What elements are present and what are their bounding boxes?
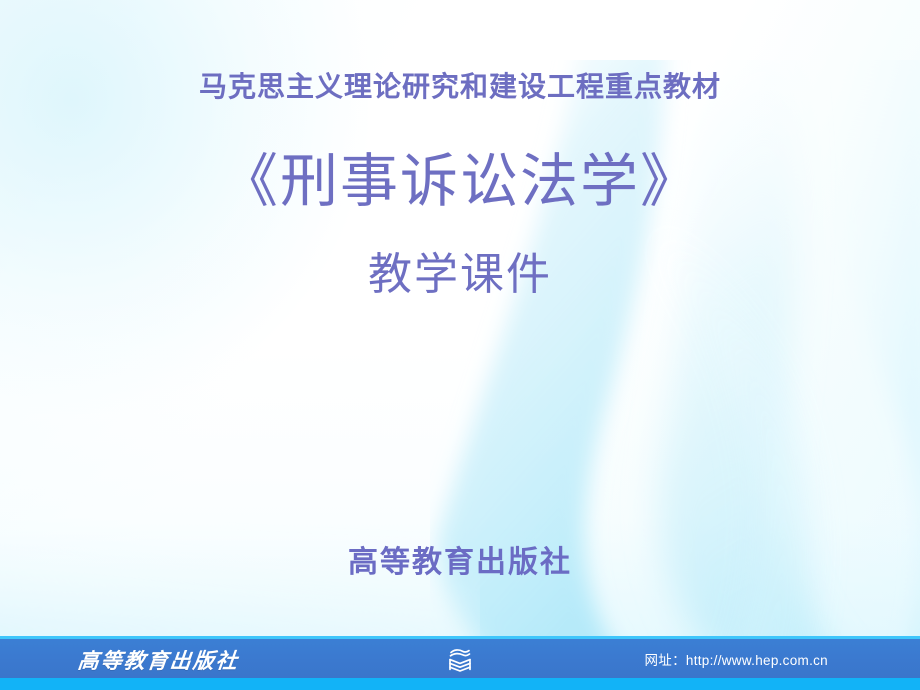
slide-content: 马克思主义理论研究和建设工程重点教材 《刑事诉讼法学》 教学课件 高等教育出版社 (0, 0, 920, 690)
footer-website-url[interactable]: 网址：http://www.hep.com.cn (644, 639, 828, 678)
publisher-name: 高等教育出版社 (0, 543, 920, 582)
page-subtitle: 教学课件 (0, 246, 920, 303)
footer-bottom-strip (0, 678, 920, 690)
slide-canvas: 马克思主义理论研究和建设工程重点教材 《刑事诉讼法学》 教学课件 高等教育出版社… (0, 0, 920, 690)
page-title: 《刑事诉讼法学》 (0, 146, 920, 219)
slide-kicker: 马克思主义理论研究和建设工程重点教材 (0, 70, 920, 104)
hep-book-emblem-icon (443, 643, 477, 677)
footer-publisher-logotype: 高等教育出版社 (76, 645, 240, 675)
footer-bar: 高等教育出版社 网址：http://www.hep.com.cn (0, 636, 920, 690)
